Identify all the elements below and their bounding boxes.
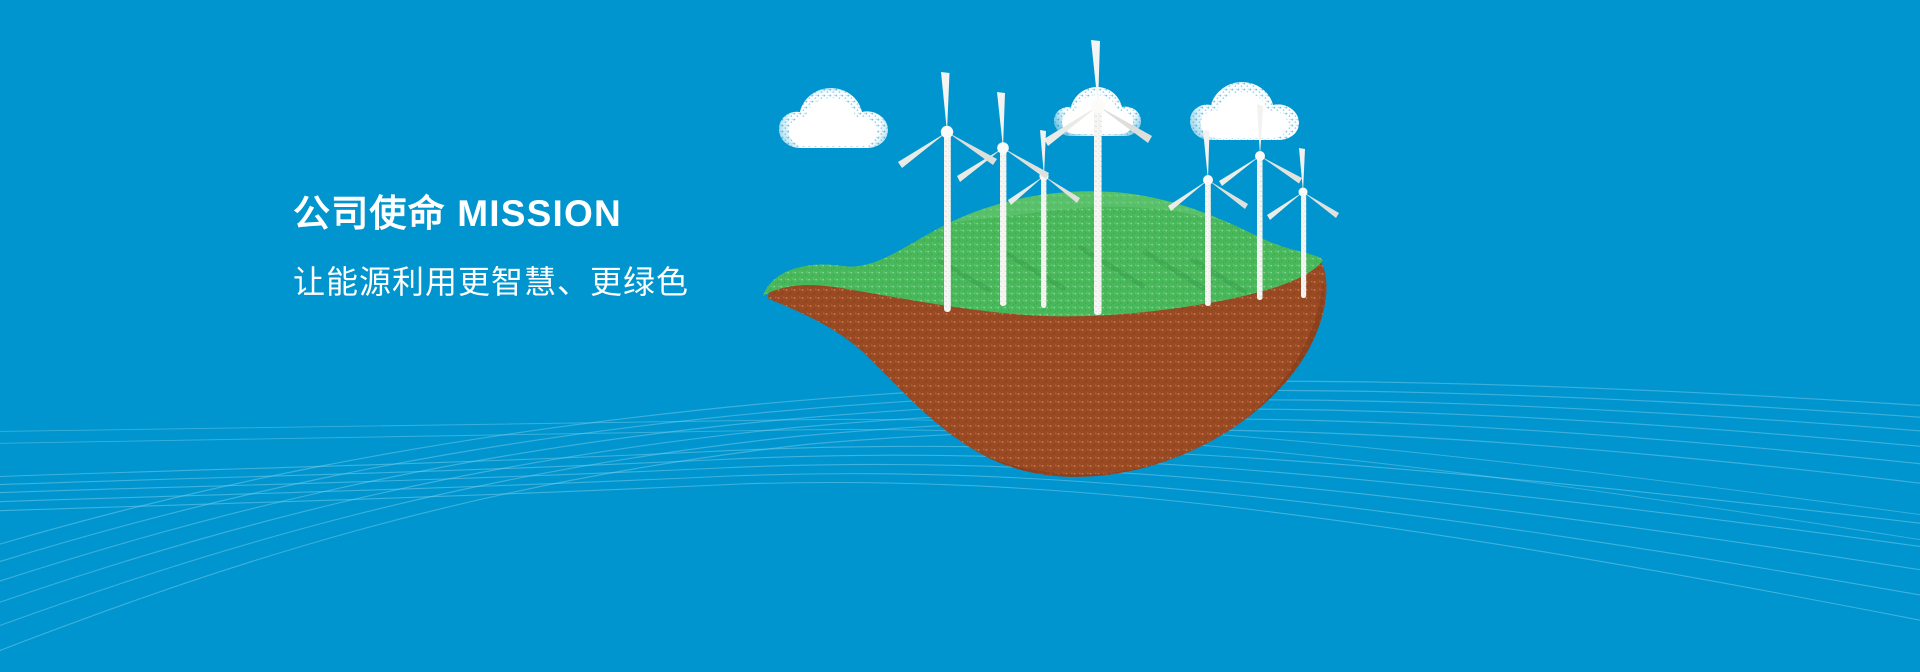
heading-block: 公司使命 MISSION 让能源利用更智慧、更绿色	[293, 192, 689, 302]
cloud-left	[779, 88, 888, 148]
mission-banner: 公司使命 MISSION 让能源利用更智慧、更绿色	[0, 0, 1920, 672]
island-wind-farm-svg	[745, 40, 1385, 510]
page-subtitle: 让能源利用更智慧、更绿色	[293, 262, 689, 302]
page-title: 公司使命 MISSION	[293, 192, 689, 236]
illustration-floating-island	[745, 40, 1385, 510]
